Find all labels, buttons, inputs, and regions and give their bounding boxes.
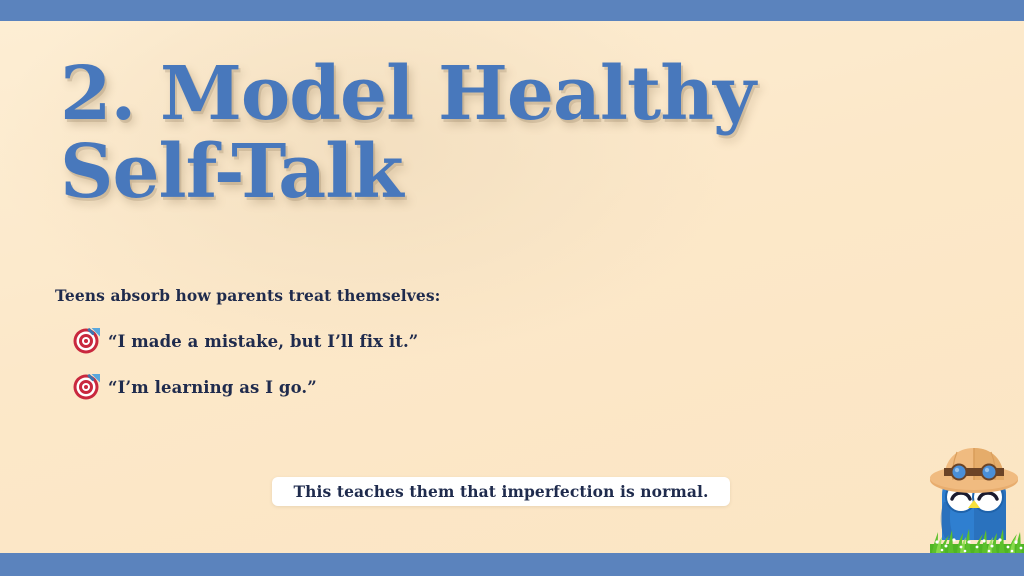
lead-paragraph: Teens absorb how parents treat themselve… [55, 286, 441, 305]
caption-callout: This teaches them that imperfection is n… [272, 477, 730, 506]
title-line-2: Self-Talk [60, 135, 860, 209]
top-accent-bar [0, 0, 1024, 21]
list-item: “I’m learning as I go.” [72, 370, 672, 404]
caption-text: This teaches them that imperfection is n… [294, 482, 709, 501]
list-item: “I made a mistake, but I’ll fix it.” [72, 324, 672, 358]
list-item-label: “I’m learning as I go.” [108, 378, 317, 397]
bottom-accent-bar [0, 553, 1024, 576]
slide-canvas: 2. Model Healthy Self-Talk Teens absorb … [0, 0, 1024, 576]
list-item-label: “I made a mistake, but I’ll fix it.” [108, 332, 418, 351]
target-icon [72, 374, 99, 401]
grass-decoration [930, 518, 1024, 553]
bullet-list: “I made a mistake, but I’ll fix it.” “I’… [72, 324, 672, 416]
target-icon [72, 328, 99, 355]
slide-title: 2. Model Healthy Self-Talk [60, 57, 860, 209]
title-line-1: 2. Model Healthy [60, 57, 860, 131]
